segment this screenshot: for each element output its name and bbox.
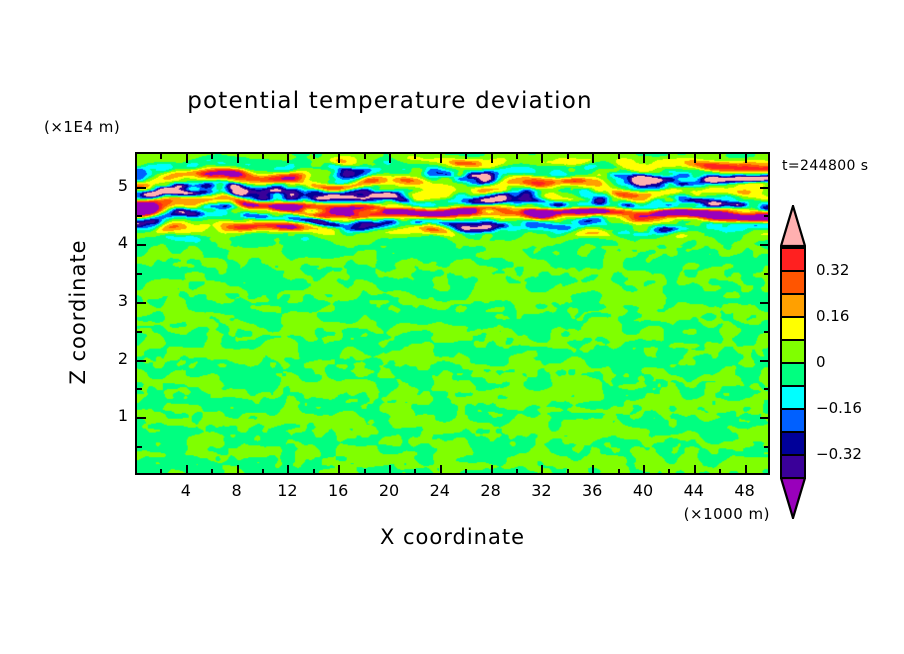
colorbar-over-arrow (780, 205, 806, 247)
x-axis-tick-top (516, 154, 518, 159)
x-axis-tick-top (160, 154, 162, 159)
x-axis-tick-top (668, 154, 670, 159)
x-axis-tick (465, 469, 467, 474)
y-axis-tick-label: 2 (88, 349, 128, 368)
colorbar-band (780, 247, 806, 272)
x-axis-tick (745, 465, 747, 474)
x-axis-tick-label: 4 (166, 481, 206, 500)
x-axis-tick-top (592, 154, 594, 163)
x-axis-tick-label: 48 (725, 481, 765, 500)
colorbar-band (780, 408, 806, 433)
x-axis-tick-top (440, 154, 442, 163)
x-axis-tick-top (338, 154, 340, 163)
x-axis-tick-label: 40 (623, 481, 663, 500)
y-axis-tick-right (764, 273, 769, 275)
y-axis-tick-right (760, 360, 769, 362)
y-axis-tick (137, 331, 142, 333)
x-axis-tick (211, 469, 213, 474)
y-axis-tick-label: 3 (88, 291, 128, 310)
colorbar-band (780, 431, 806, 456)
x-axis-tick-top (541, 154, 543, 163)
x-axis-tick-top (287, 154, 289, 163)
colorbar-tick-label: −0.32 (816, 445, 862, 463)
x-axis-tick (541, 465, 543, 474)
x-axis-tick-top (745, 154, 747, 163)
x-axis-tick (389, 465, 391, 474)
y-axis-tick-right (760, 187, 769, 189)
colorbar-band (780, 270, 806, 295)
x-axis-tick (491, 465, 493, 474)
colorbar-band (780, 385, 806, 410)
x-axis-tick-label: 8 (217, 481, 257, 500)
y-axis-tick-label: 4 (88, 233, 128, 252)
contour-plot-area (135, 152, 770, 475)
colorbar-under-arrow (780, 477, 806, 519)
colorbar-tick-label: −0.16 (816, 399, 862, 417)
x-axis-tick (592, 465, 594, 474)
y-axis-tick (137, 273, 142, 275)
x-axis-tick-label: 36 (572, 481, 612, 500)
colorbar-tick-label: 0 (816, 353, 826, 371)
x-axis-tick-top (719, 154, 721, 159)
y-axis-tick-right (764, 331, 769, 333)
x-axis-tick-label: 16 (318, 481, 358, 500)
x-axis-tick-top (389, 154, 391, 163)
x-axis-tick-top (313, 154, 315, 159)
x-axis-tick-label: 32 (521, 481, 561, 500)
x-axis-tick (516, 469, 518, 474)
x-axis-title: X coordinate (135, 525, 770, 549)
z-axis-unit-label: (×1E4 m) (44, 118, 120, 136)
x-axis-tick-top (694, 154, 696, 163)
colorbar-band (780, 316, 806, 341)
x-axis-tick (338, 465, 340, 474)
timestamp-annotation: t=244800 s (782, 158, 868, 174)
x-axis-tick-top (364, 154, 366, 159)
x-axis-tick (414, 469, 416, 474)
x-axis-tick-top (414, 154, 416, 159)
x-axis-tick (567, 469, 569, 474)
colorbar-band (780, 293, 806, 318)
temperature-deviation-field (137, 154, 768, 473)
y-axis-tick (137, 417, 146, 419)
x-axis-tick (668, 469, 670, 474)
x-axis-tick (719, 469, 721, 474)
x-axis-tick-top (211, 154, 213, 159)
x-axis-tick (618, 469, 620, 474)
y-axis-tick-right (764, 388, 769, 390)
y-axis-tick-label: 1 (88, 406, 128, 425)
y-axis-tick-right (760, 244, 769, 246)
x-axis-tick-top (567, 154, 569, 159)
x-axis-tick (160, 469, 162, 474)
y-axis-tick (137, 446, 142, 448)
x-axis-tick (694, 465, 696, 474)
x-axis-tick (364, 469, 366, 474)
x-axis-tick (643, 465, 645, 474)
x-axis-tick (440, 465, 442, 474)
x-axis-tick (313, 469, 315, 474)
y-axis-tick-right (760, 417, 769, 419)
colorbar-band (780, 454, 806, 479)
x-axis-tick-top (465, 154, 467, 159)
y-axis-tick (137, 302, 146, 304)
x-axis-tick-top (186, 154, 188, 163)
page-title: potential temperature deviation (0, 88, 780, 114)
colorbar-tick-label: 0.16 (816, 307, 849, 325)
y-axis-title: Z coordinate (66, 212, 90, 412)
x-axis-tick-top (643, 154, 645, 163)
x-axis-tick (237, 465, 239, 474)
colorbar-tick-label: 0.32 (816, 261, 849, 279)
y-axis-tick (137, 360, 146, 362)
x-axis-tick-label: 24 (420, 481, 460, 500)
x-axis-tick-label: 20 (369, 481, 409, 500)
colorbar-band (780, 339, 806, 364)
x-axis-tick-label: 12 (267, 481, 307, 500)
colorbar-band (780, 362, 806, 387)
x-axis-tick-top (618, 154, 620, 159)
x-axis-tick (287, 465, 289, 474)
x-axis-tick (186, 465, 188, 474)
y-axis-tick-label: 5 (88, 176, 128, 195)
y-axis-tick-right (764, 215, 769, 217)
y-axis-tick (137, 215, 142, 217)
x-axis-tick-top (491, 154, 493, 163)
y-axis-tick-right (764, 446, 769, 448)
y-axis-tick (137, 388, 142, 390)
x-axis-tick-label: 44 (674, 481, 714, 500)
x-axis-tick-top (262, 154, 264, 159)
x-axis-tick-top (237, 154, 239, 163)
y-axis-tick-right (760, 302, 769, 304)
y-axis-tick (137, 244, 146, 246)
x-axis-unit-label: (×1000 m) (600, 505, 770, 523)
y-axis-tick (137, 187, 146, 189)
x-axis-tick-label: 28 (471, 481, 511, 500)
x-axis-tick (262, 469, 264, 474)
